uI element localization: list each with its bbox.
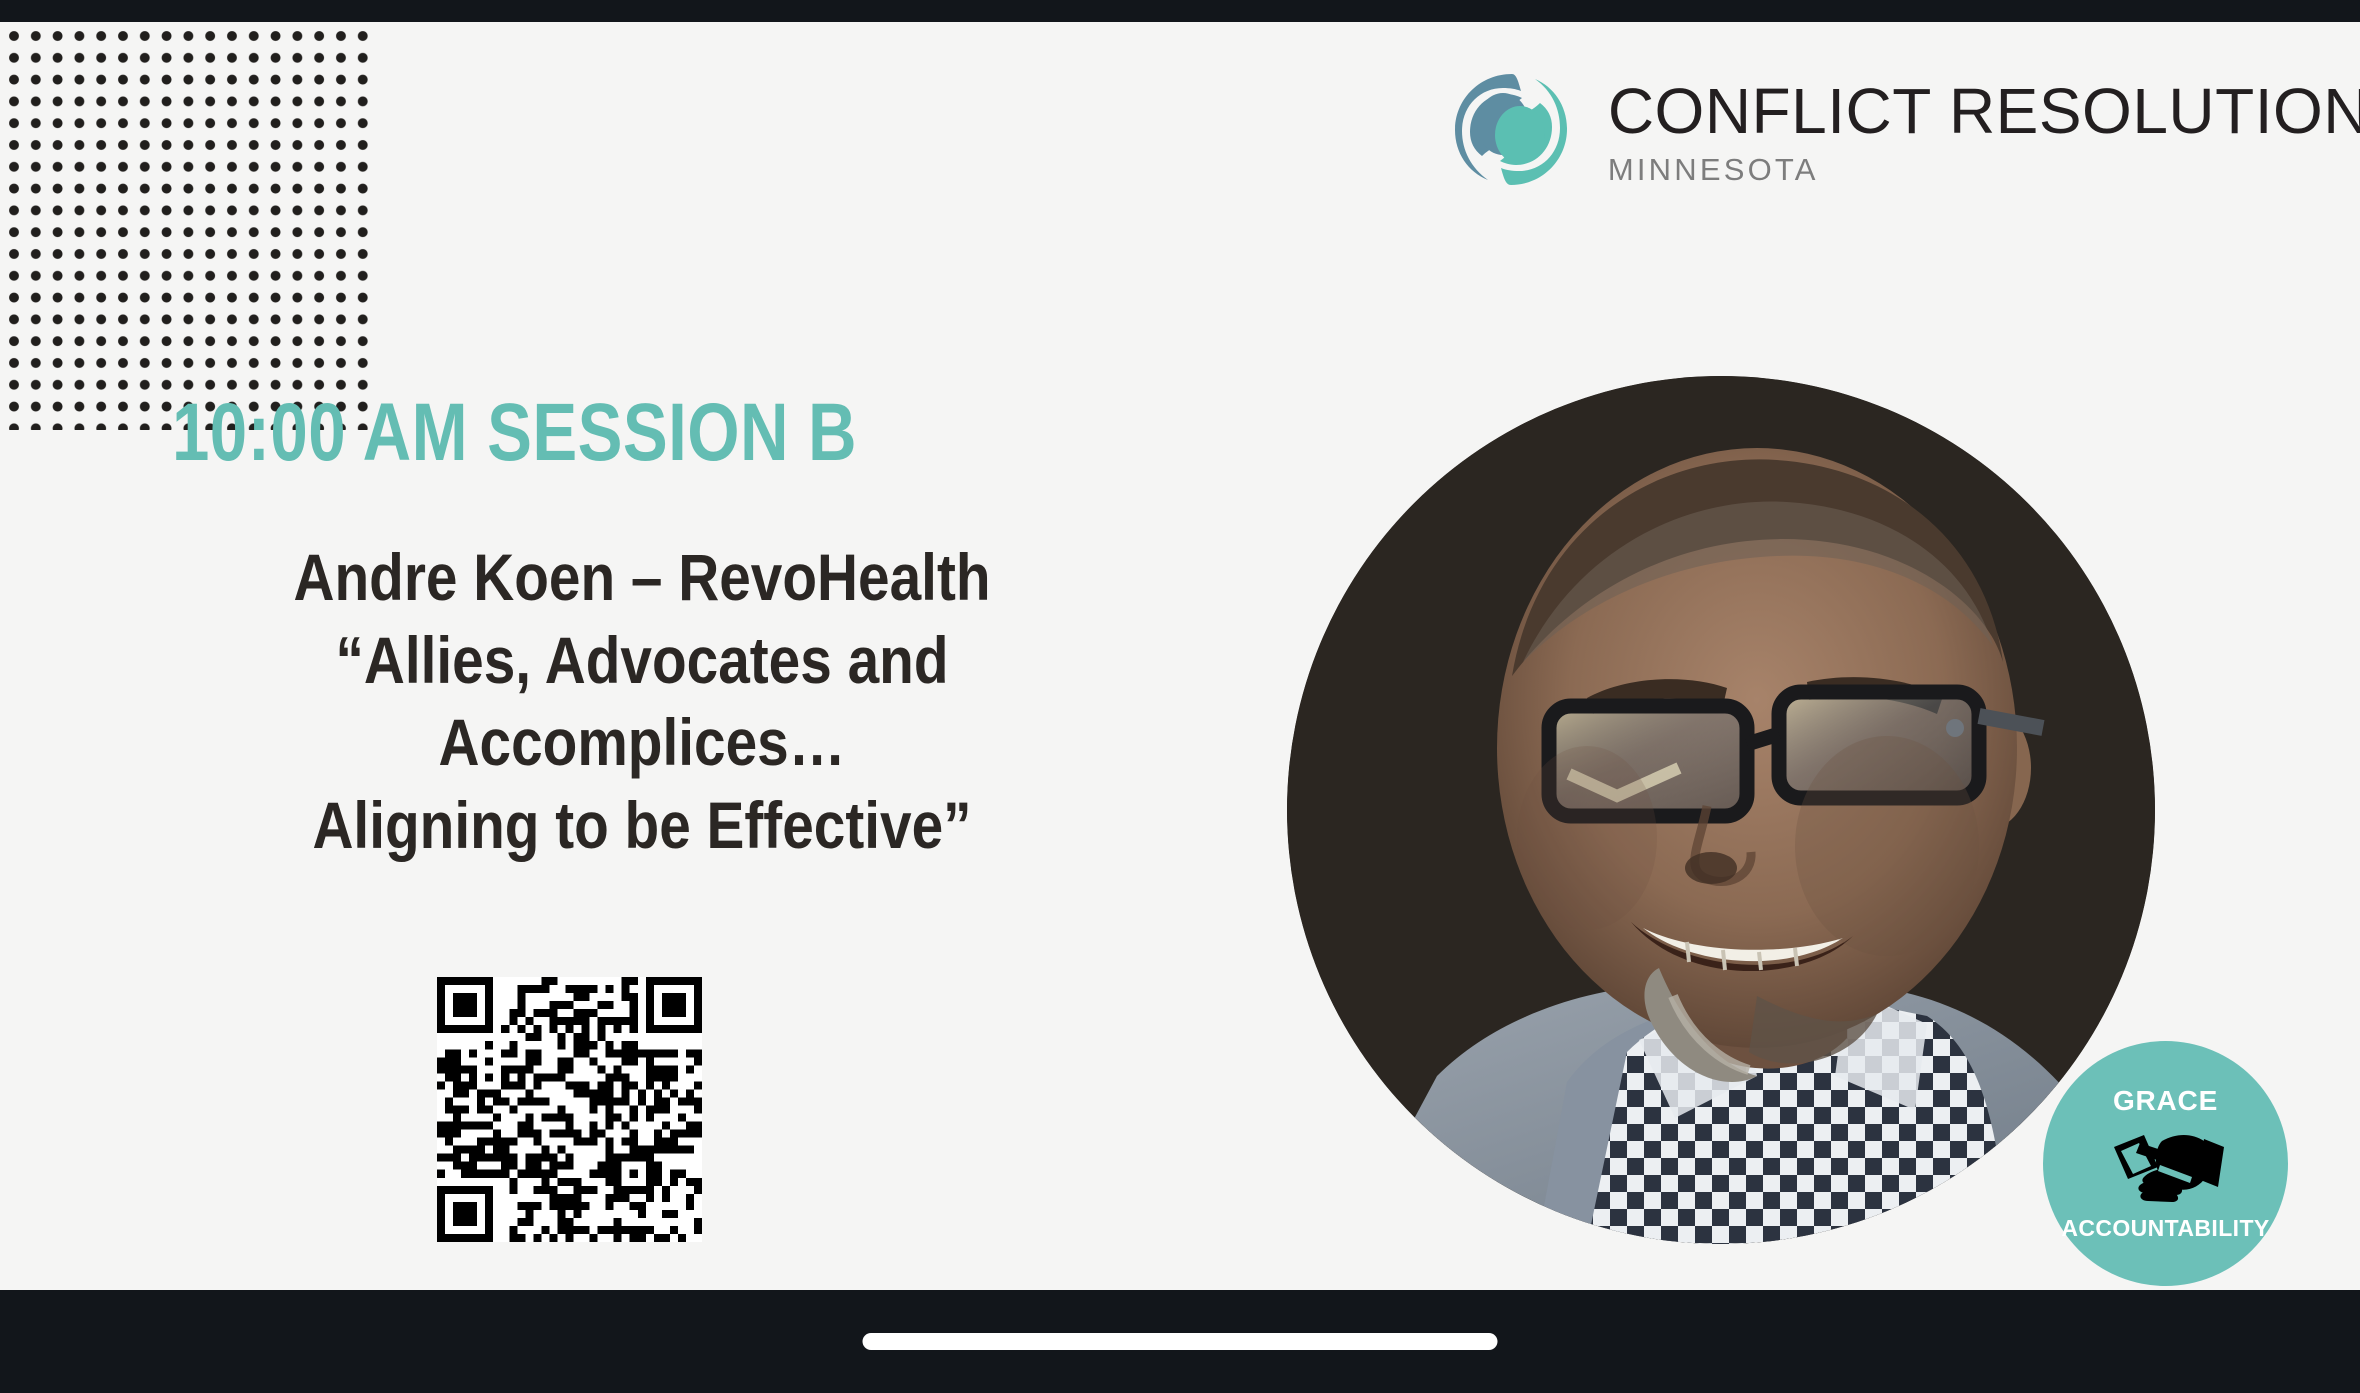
- home-indicator[interactable]: [863, 1333, 1498, 1350]
- brand-name: CONFLICT RESOLUTION: [1608, 79, 2360, 143]
- session-title-line-2: “Allies, Advocates and: [186, 619, 1098, 702]
- grace-accountability-badge: GRACE: [2043, 1041, 2288, 1286]
- device-status-bar: [0, 0, 2360, 22]
- brand-wordmark: CONFLICT RESOLUTION MINNESOTA: [1608, 73, 2360, 185]
- decorative-dot-grid: [8, 30, 368, 430]
- grace-badge-top-label: GRACE: [2113, 1087, 2218, 1115]
- two-figures-circle-logo-icon: [1440, 58, 1582, 200]
- handshake-icon: [2100, 1121, 2232, 1209]
- session-title-line-3: Accomplices…: [186, 701, 1098, 784]
- brand-logo: CONFLICT RESOLUTION MINNESOTA: [1440, 58, 2360, 200]
- session-text-block: 10:00 AM SESSION B Andre Koen – RevoHeal…: [112, 392, 1172, 866]
- tablet-device-frame: CONFLICT RESOLUTION MINNESOTA 10:00 AM S…: [0, 0, 2360, 1393]
- session-title-line-1: Andre Koen – RevoHealth: [186, 536, 1098, 619]
- speaker-portrait-andre-koen: [1287, 376, 2155, 1244]
- brand-subtitle: MINNESOTA: [1608, 154, 2360, 185]
- session-time-heading: 10:00 AM SESSION B: [172, 392, 992, 474]
- session-title-line-4: Aligning to be Effective”: [186, 784, 1098, 867]
- session-qr-code[interactable]: [437, 977, 702, 1242]
- grace-badge-bottom-label: ACCOUNTABILITY: [2061, 1217, 2269, 1240]
- presentation-slide: CONFLICT RESOLUTION MINNESOTA 10:00 AM S…: [0, 22, 2360, 1290]
- session-title: Andre Koen – RevoHealth “Allies, Advocat…: [186, 536, 1098, 866]
